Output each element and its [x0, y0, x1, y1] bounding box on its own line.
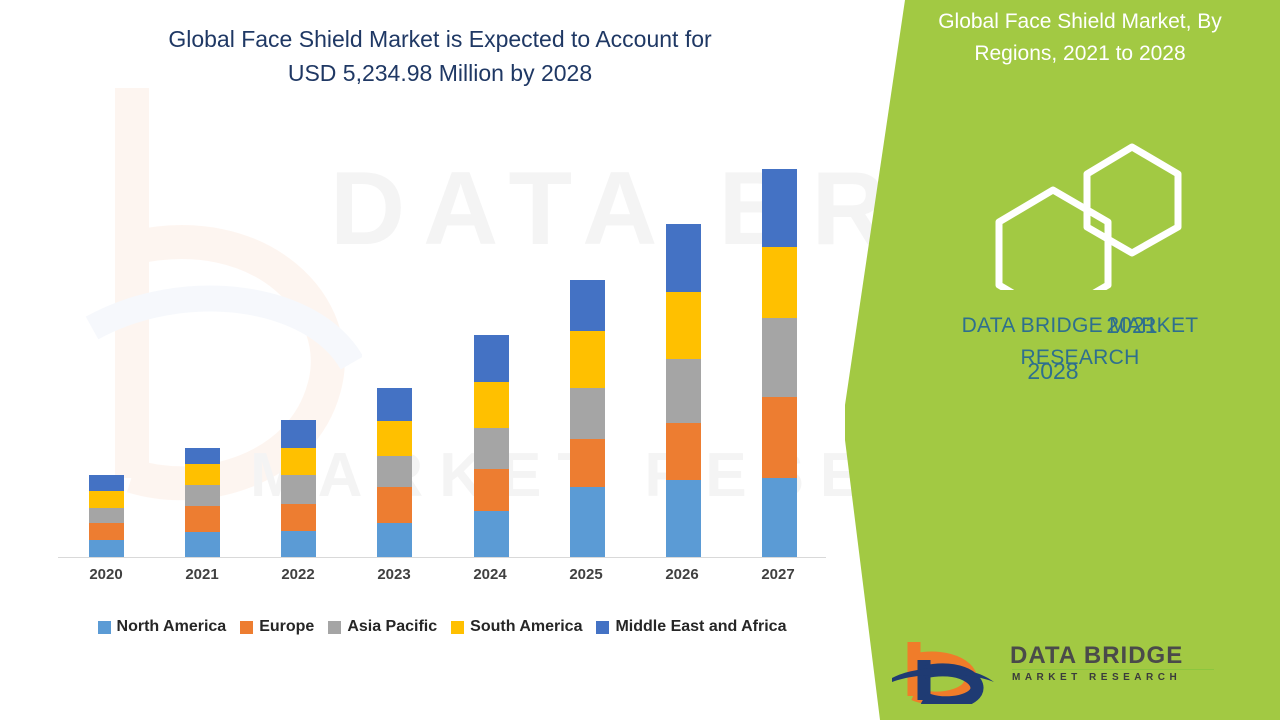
stacked-bar-chart: [58, 120, 828, 558]
bar-slot: [347, 120, 443, 557]
legend-swatch-icon: [451, 621, 464, 634]
bar-segment[interactable]: [185, 532, 220, 557]
bar-slot: [636, 120, 732, 557]
bar-segment[interactable]: [89, 475, 124, 492]
bar-group: [58, 120, 828, 557]
legend-swatch-icon: [98, 621, 111, 634]
bar-segment[interactable]: [377, 456, 412, 487]
brand-name-line-1: DATA BRIDGE MARKET: [890, 310, 1270, 342]
page-title: Global Face Shield Market is Expected to…: [40, 22, 840, 90]
stacked-bar[interactable]: [281, 420, 316, 557]
hexagon-group: 2021 2028: [880, 140, 1280, 290]
x-axis-tick-label: 2026: [634, 566, 730, 583]
bar-segment[interactable]: [666, 224, 701, 292]
bar-slot: [58, 120, 154, 557]
infographic-root: DATA BRIDGE MARKET RESEARCH Global Face …: [0, 0, 1280, 720]
bar-segment[interactable]: [666, 423, 701, 480]
logo-divider: [1012, 669, 1214, 670]
legend-item[interactable]: Europe: [240, 618, 314, 636]
legend-swatch-icon: [596, 621, 609, 634]
brand-name-line-2: RESEARCH: [890, 342, 1270, 374]
bar-segment[interactable]: [474, 335, 509, 382]
legend-label: Middle East and Africa: [615, 618, 786, 636]
stacked-bar[interactable]: [570, 280, 605, 557]
bar-segment[interactable]: [762, 397, 797, 477]
legend-label: North America: [117, 618, 227, 636]
bar-segment[interactable]: [762, 318, 797, 397]
x-axis-tick-label: 2021: [154, 566, 250, 583]
bar-slot: [443, 120, 539, 557]
legend-swatch-icon: [240, 621, 253, 634]
legend-item[interactable]: Middle East and Africa: [596, 618, 786, 636]
bar-segment[interactable]: [666, 359, 701, 423]
x-axis-tick-label: 2023: [346, 566, 442, 583]
stacked-bar[interactable]: [89, 475, 124, 557]
green-panel-content: Global Face Shield Market, By Regions, 2…: [880, 0, 1280, 720]
bar-segment[interactable]: [89, 540, 124, 557]
stacked-bar[interactable]: [377, 388, 412, 557]
panel-title: Global Face Shield Market, By Regions, 2…: [890, 6, 1270, 70]
panel-title-line-2: Regions, 2021 to 2028: [890, 38, 1270, 70]
bar-slot: [154, 120, 250, 557]
stacked-bar[interactable]: [666, 224, 701, 557]
bar-slot: [732, 120, 828, 557]
bar-segment[interactable]: [666, 480, 701, 557]
x-axis-tick-label: 2020: [58, 566, 154, 583]
bar-segment[interactable]: [377, 388, 412, 421]
bar-segment[interactable]: [570, 439, 605, 487]
bar-segment[interactable]: [185, 464, 220, 485]
bar-segment[interactable]: [185, 506, 220, 532]
x-axis-tick-label: 2022: [250, 566, 346, 583]
x-axis-tick-label: 2024: [442, 566, 538, 583]
page-title-line-1: Global Face Shield Market is Expected to…: [40, 22, 840, 56]
legend-swatch-icon: [328, 621, 341, 634]
stacked-bar[interactable]: [185, 448, 220, 557]
bar-segment[interactable]: [185, 485, 220, 506]
bar-segment[interactable]: [281, 531, 316, 557]
bar-slot: [539, 120, 635, 557]
bar-segment[interactable]: [281, 504, 316, 531]
stacked-bar[interactable]: [762, 169, 797, 557]
bar-segment[interactable]: [570, 331, 605, 388]
bar-segment[interactable]: [474, 511, 509, 557]
logo-title: DATA BRIDGE: [1010, 642, 1183, 670]
bar-segment[interactable]: [762, 478, 797, 557]
bar-segment[interactable]: [185, 448, 220, 465]
company-logo: DATA BRIDGE MARKET RESEARCH: [890, 638, 1270, 708]
bar-segment[interactable]: [377, 523, 412, 557]
bar-segment[interactable]: [281, 475, 316, 504]
bar-segment[interactable]: [89, 508, 124, 523]
stacked-bar[interactable]: [474, 335, 509, 557]
chart-legend: North AmericaEuropeAsia PacificSouth Ame…: [58, 618, 826, 636]
bar-segment[interactable]: [474, 382, 509, 428]
bar-segment[interactable]: [762, 169, 797, 247]
bar-segment[interactable]: [89, 523, 124, 541]
chart-pane: Global Face Shield Market is Expected to…: [0, 0, 880, 720]
x-axis-line: [58, 557, 826, 558]
hexagon-2028-shape: [999, 190, 1108, 290]
bar-segment[interactable]: [281, 420, 316, 447]
hexagon-2021-shape: [1087, 147, 1178, 253]
bar-segment[interactable]: [474, 469, 509, 511]
logo-subtitle: MARKET RESEARCH: [1012, 672, 1181, 683]
bar-segment[interactable]: [377, 487, 412, 522]
bar-segment[interactable]: [762, 247, 797, 318]
legend-item[interactable]: North America: [98, 618, 227, 636]
legend-item[interactable]: Asia Pacific: [328, 618, 437, 636]
bar-segment[interactable]: [474, 428, 509, 470]
page-title-line-2: USD 5,234.98 Million by 2028: [40, 56, 840, 90]
legend-label: Asia Pacific: [347, 618, 437, 636]
bar-segment[interactable]: [570, 280, 605, 331]
legend-item[interactable]: South America: [451, 618, 582, 636]
bar-segment[interactable]: [570, 388, 605, 439]
legend-label: Europe: [259, 618, 314, 636]
bar-segment[interactable]: [666, 292, 701, 359]
x-axis-tick-label: 2027: [730, 566, 826, 583]
b-bridge-logo-icon: [890, 638, 1000, 704]
panel-title-line-1: Global Face Shield Market, By: [890, 6, 1270, 38]
bar-segment[interactable]: [281, 448, 316, 475]
bar-segment[interactable]: [89, 491, 124, 508]
bar-slot: [251, 120, 347, 557]
brand-name: DATA BRIDGE MARKET RESEARCH: [890, 310, 1270, 374]
bar-segment[interactable]: [570, 487, 605, 557]
x-axis-labels: 20202021202220232024202520262027: [58, 566, 826, 583]
legend-label: South America: [470, 618, 582, 636]
bar-segment[interactable]: [377, 421, 412, 455]
x-axis-tick-label: 2025: [538, 566, 634, 583]
